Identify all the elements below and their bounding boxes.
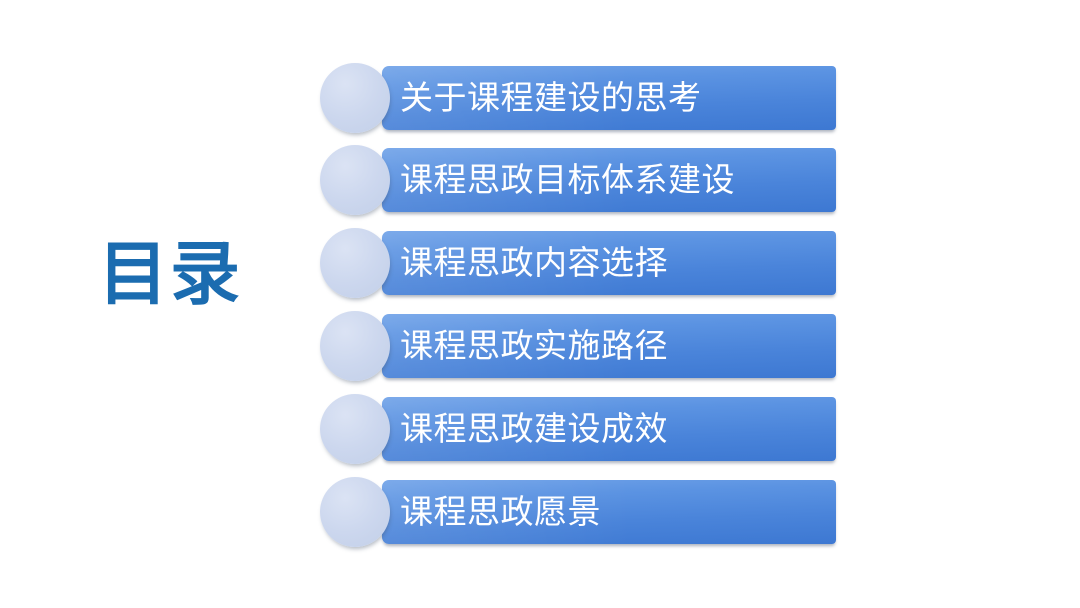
agenda-item-4[interactable]: 课程思政实施路径 <box>320 311 840 383</box>
bullet-circle-icon <box>320 394 390 464</box>
page-title: 目录 <box>98 236 328 312</box>
agenda-list: 关于课程建设的思考 课程思政目标体系建设 课程思政内容选择 课程思政实施路径 课… <box>320 63 840 547</box>
agenda-item-label: 课程思政目标体系建设 <box>400 148 735 212</box>
agenda-item-5[interactable]: 课程思政建设成效 <box>320 394 840 466</box>
agenda-item-3[interactable]: 课程思政内容选择 <box>320 228 840 300</box>
agenda-item-label: 课程思政内容选择 <box>400 231 668 295</box>
agenda-item-label: 关于课程建设的思考 <box>400 66 702 130</box>
agenda-item-label: 课程思政愿景 <box>400 480 601 544</box>
bullet-circle-icon <box>320 228 390 298</box>
bullet-circle-icon <box>320 145 390 215</box>
bullet-circle-icon <box>320 311 390 381</box>
agenda-item-2[interactable]: 课程思政目标体系建设 <box>320 145 840 217</box>
agenda-item-label: 课程思政建设成效 <box>400 397 668 461</box>
agenda-item-label: 课程思政实施路径 <box>400 314 668 378</box>
bullet-circle-icon <box>320 63 390 133</box>
agenda-item-1[interactable]: 关于课程建设的思考 <box>320 63 840 135</box>
agenda-item-6[interactable]: 课程思政愿景 <box>320 477 840 549</box>
bullet-circle-icon <box>320 477 390 547</box>
agenda-slide: 目录 关于课程建设的思考 课程思政目标体系建设 课程思政内容选择 课程思政实施路… <box>0 0 1080 608</box>
